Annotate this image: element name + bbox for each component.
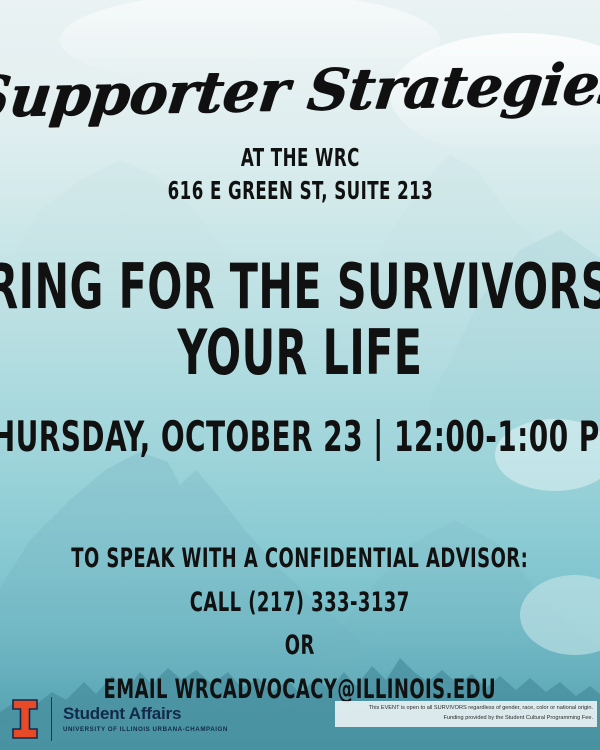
disclaimer-line-2: Funding provided by the Student Cultural… <box>340 713 593 723</box>
page-title: Supporter Strategies <box>0 55 600 127</box>
poster-content: Supporter Strategies AT THE WRC 616 E GR… <box>0 0 600 750</box>
headline: CARING FOR THE SURVIVORS IN YOUR LIFE <box>0 254 600 387</box>
unit-name: Student Affairs <box>63 705 228 723</box>
event-datetime: THURSDAY, OCTOBER 23 | 12:00-1:00 PM <box>0 414 600 460</box>
unit-subtitle: UNIVERSITY OF ILLINOIS URBANA-CHAMPAIGN <box>63 726 228 733</box>
poster-canvas: Supporter Strategies AT THE WRC 616 E GR… <box>0 0 600 750</box>
disclaimer-box: This EVENT is open to all SURVIVORS rega… <box>335 701 597 727</box>
venue-label: AT THE WRC <box>241 142 360 175</box>
logo-text-block: Student Affairs UNIVERSITY OF ILLINOIS U… <box>63 705 228 733</box>
contact-intro: TO SPEAK WITH A CONFIDENTIAL ADVISOR: <box>72 537 529 581</box>
footer-bar: Student Affairs UNIVERSITY OF ILLINOIS U… <box>0 688 600 750</box>
headline-line-1: CARING FOR THE SURVIVORS IN <box>0 254 600 320</box>
contact-conjunction: OR <box>72 624 529 668</box>
address-label: 616 E GREEN ST, SUITE 213 <box>167 175 433 208</box>
headline-line-2: YOUR LIFE <box>0 320 600 386</box>
logo-divider <box>51 697 52 741</box>
disclaimer-line-1: This EVENT is open to all SURVIVORS rega… <box>340 703 593 713</box>
illinois-block-i-icon <box>12 699 38 739</box>
contact-block: TO SPEAK WITH A CONFIDENTIAL ADVISOR: CA… <box>0 537 600 712</box>
contact-phone: CALL (217) 333-3137 <box>72 581 529 625</box>
university-logo-lockup: Student Affairs UNIVERSITY OF ILLINOIS U… <box>12 697 228 741</box>
